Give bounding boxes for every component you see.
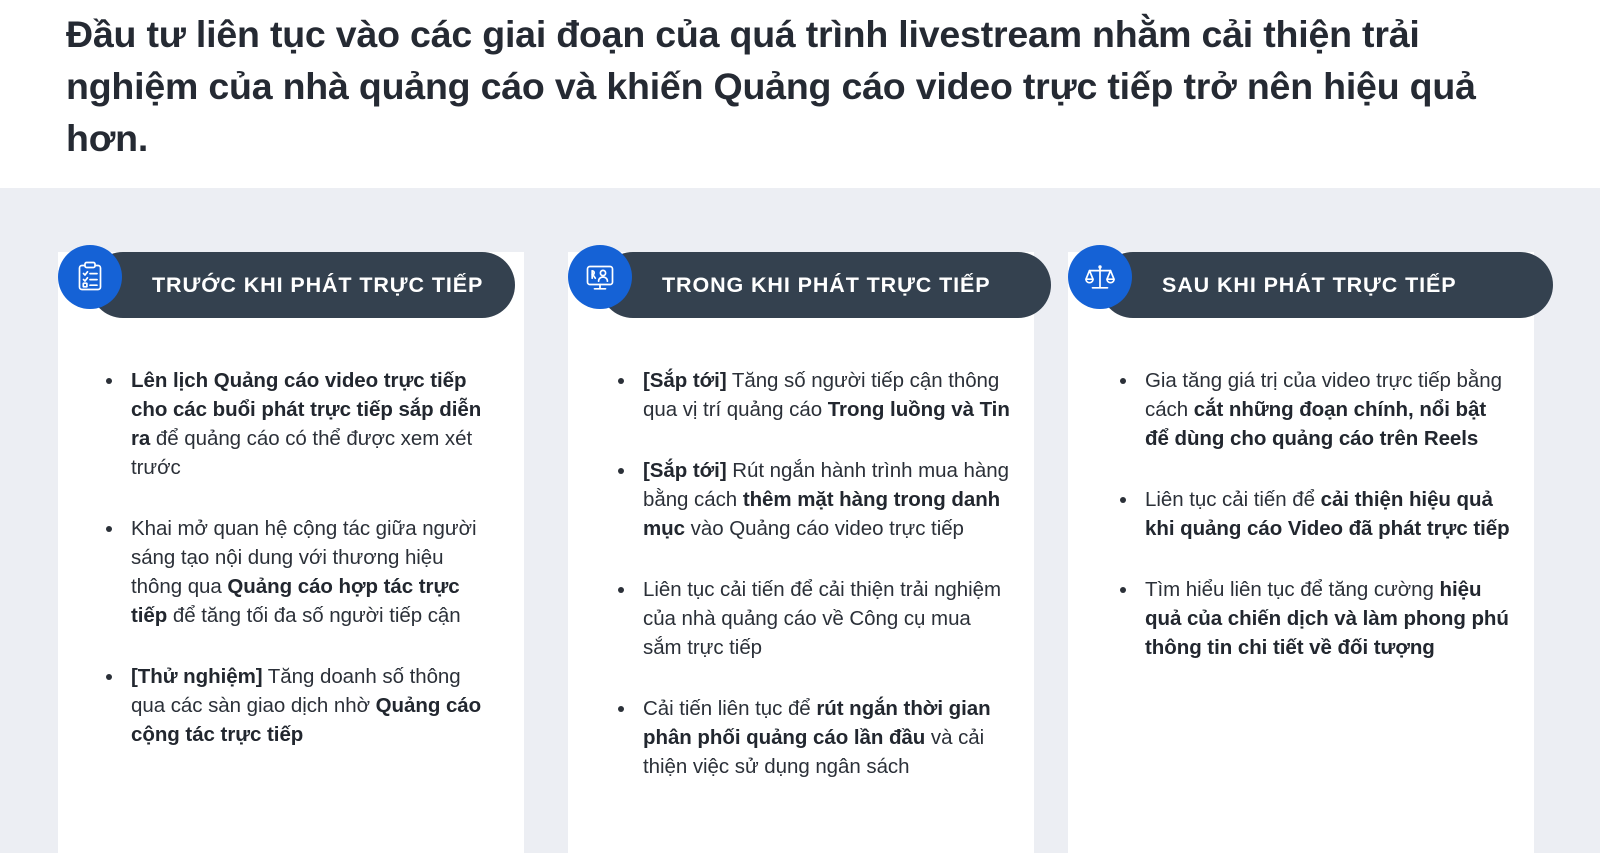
list-item: Liên tục cải tiến để cải thiện trải nghi… — [614, 575, 1010, 662]
body-text: để tăng tối đa số người tiếp cận — [167, 604, 460, 627]
list-item: Liên tục cải tiến để cải thiện hiệu quả … — [1116, 485, 1512, 543]
body-text: Cải tiến liên tục để — [643, 697, 816, 720]
bullet-list-after-live: Gia tăng giá trị của video trực tiếp bằn… — [1068, 318, 1534, 662]
list-item: [Thử nghiệm] Tăng doanh số thông qua các… — [102, 662, 496, 749]
balance-scale-icon — [1068, 245, 1132, 309]
bullet-list-during-live: [Sắp tới] Tăng số người tiếp cận thông q… — [568, 318, 1034, 781]
stage-card-before-live: TRƯỚC KHI PHÁT TRỰC TIẾP — [58, 252, 524, 853]
list-item: [Sắp tới] Rút ngắn hành trình mua hàng b… — [614, 456, 1010, 543]
list-item: Lên lịch Quảng cáo video trực tiếp cho c… — [102, 366, 496, 482]
body-text: Tìm hiểu liên tục để tăng cường — [1145, 578, 1440, 601]
card-title-pill: SAU KHI PHÁT TRỰC TIẾP — [1100, 252, 1553, 318]
body-text: vào Quảng cáo video trực tiếp — [685, 517, 964, 540]
list-item: Khai mở quan hệ cộng tác giữa người sáng… — [102, 514, 496, 630]
emphasis-text: [Thử nghiệm] — [131, 665, 263, 688]
page-title: Đầu tư liên tục vào các giai đoạn của qu… — [66, 8, 1516, 164]
heading-band: Đầu tư liên tục vào các giai đoạn của qu… — [0, 0, 1600, 188]
card-title-pill: TRONG KHI PHÁT TRỰC TIẾP — [600, 252, 1051, 318]
stage-cards-container: TRƯỚC KHI PHÁT TRỰC TIẾP — [0, 188, 1600, 853]
body-text: Liên tục cải tiến để cải thiện trải nghi… — [643, 578, 1001, 659]
emphasis-text: cắt những đoạn chính, nổi bật để dùng ch… — [1145, 398, 1486, 450]
content-area: TRƯỚC KHI PHÁT TRỰC TIẾP — [0, 188, 1600, 853]
card-title-label: TRƯỚC KHI PHÁT TRỰC TIẾP — [152, 273, 483, 298]
card-title-pill: TRƯỚC KHI PHÁT TRỰC TIẾP — [90, 252, 515, 318]
live-monitor-person-icon — [568, 245, 632, 309]
stage-card-after-live: SAU KHI PHÁT TRỰC TIẾP — [1068, 252, 1534, 853]
list-item: Gia tăng giá trị của video trực tiếp bằn… — [1116, 366, 1512, 453]
body-text: để quảng cáo có thể được xem xét trước — [131, 427, 472, 479]
list-item: Cải tiến liên tục để rút ngắn thời gian … — [614, 694, 1010, 781]
emphasis-text: [Sắp tới] — [643, 459, 727, 482]
stage-card-during-live: TRONG KHI PHÁT TRỰC TIẾP — [568, 252, 1034, 853]
list-item: Tìm hiểu liên tục để tăng cường hiệu quả… — [1116, 575, 1512, 662]
emphasis-text: Trong luồng và Tin — [828, 398, 1010, 421]
list-item: [Sắp tới] Tăng số người tiếp cận thông q… — [614, 366, 1010, 424]
bullet-list-before-live: Lên lịch Quảng cáo video trực tiếp cho c… — [58, 318, 524, 749]
clipboard-checklist-icon — [58, 245, 122, 309]
emphasis-text: [Sắp tới] — [643, 369, 727, 392]
slide-root: Đầu tư liên tục vào các giai đoạn của qu… — [0, 0, 1600, 853]
card-title-label: TRONG KHI PHÁT TRỰC TIẾP — [662, 273, 991, 298]
body-text: Liên tục cải tiến để — [1145, 488, 1321, 511]
card-title-label: SAU KHI PHÁT TRỰC TIẾP — [1162, 273, 1456, 298]
